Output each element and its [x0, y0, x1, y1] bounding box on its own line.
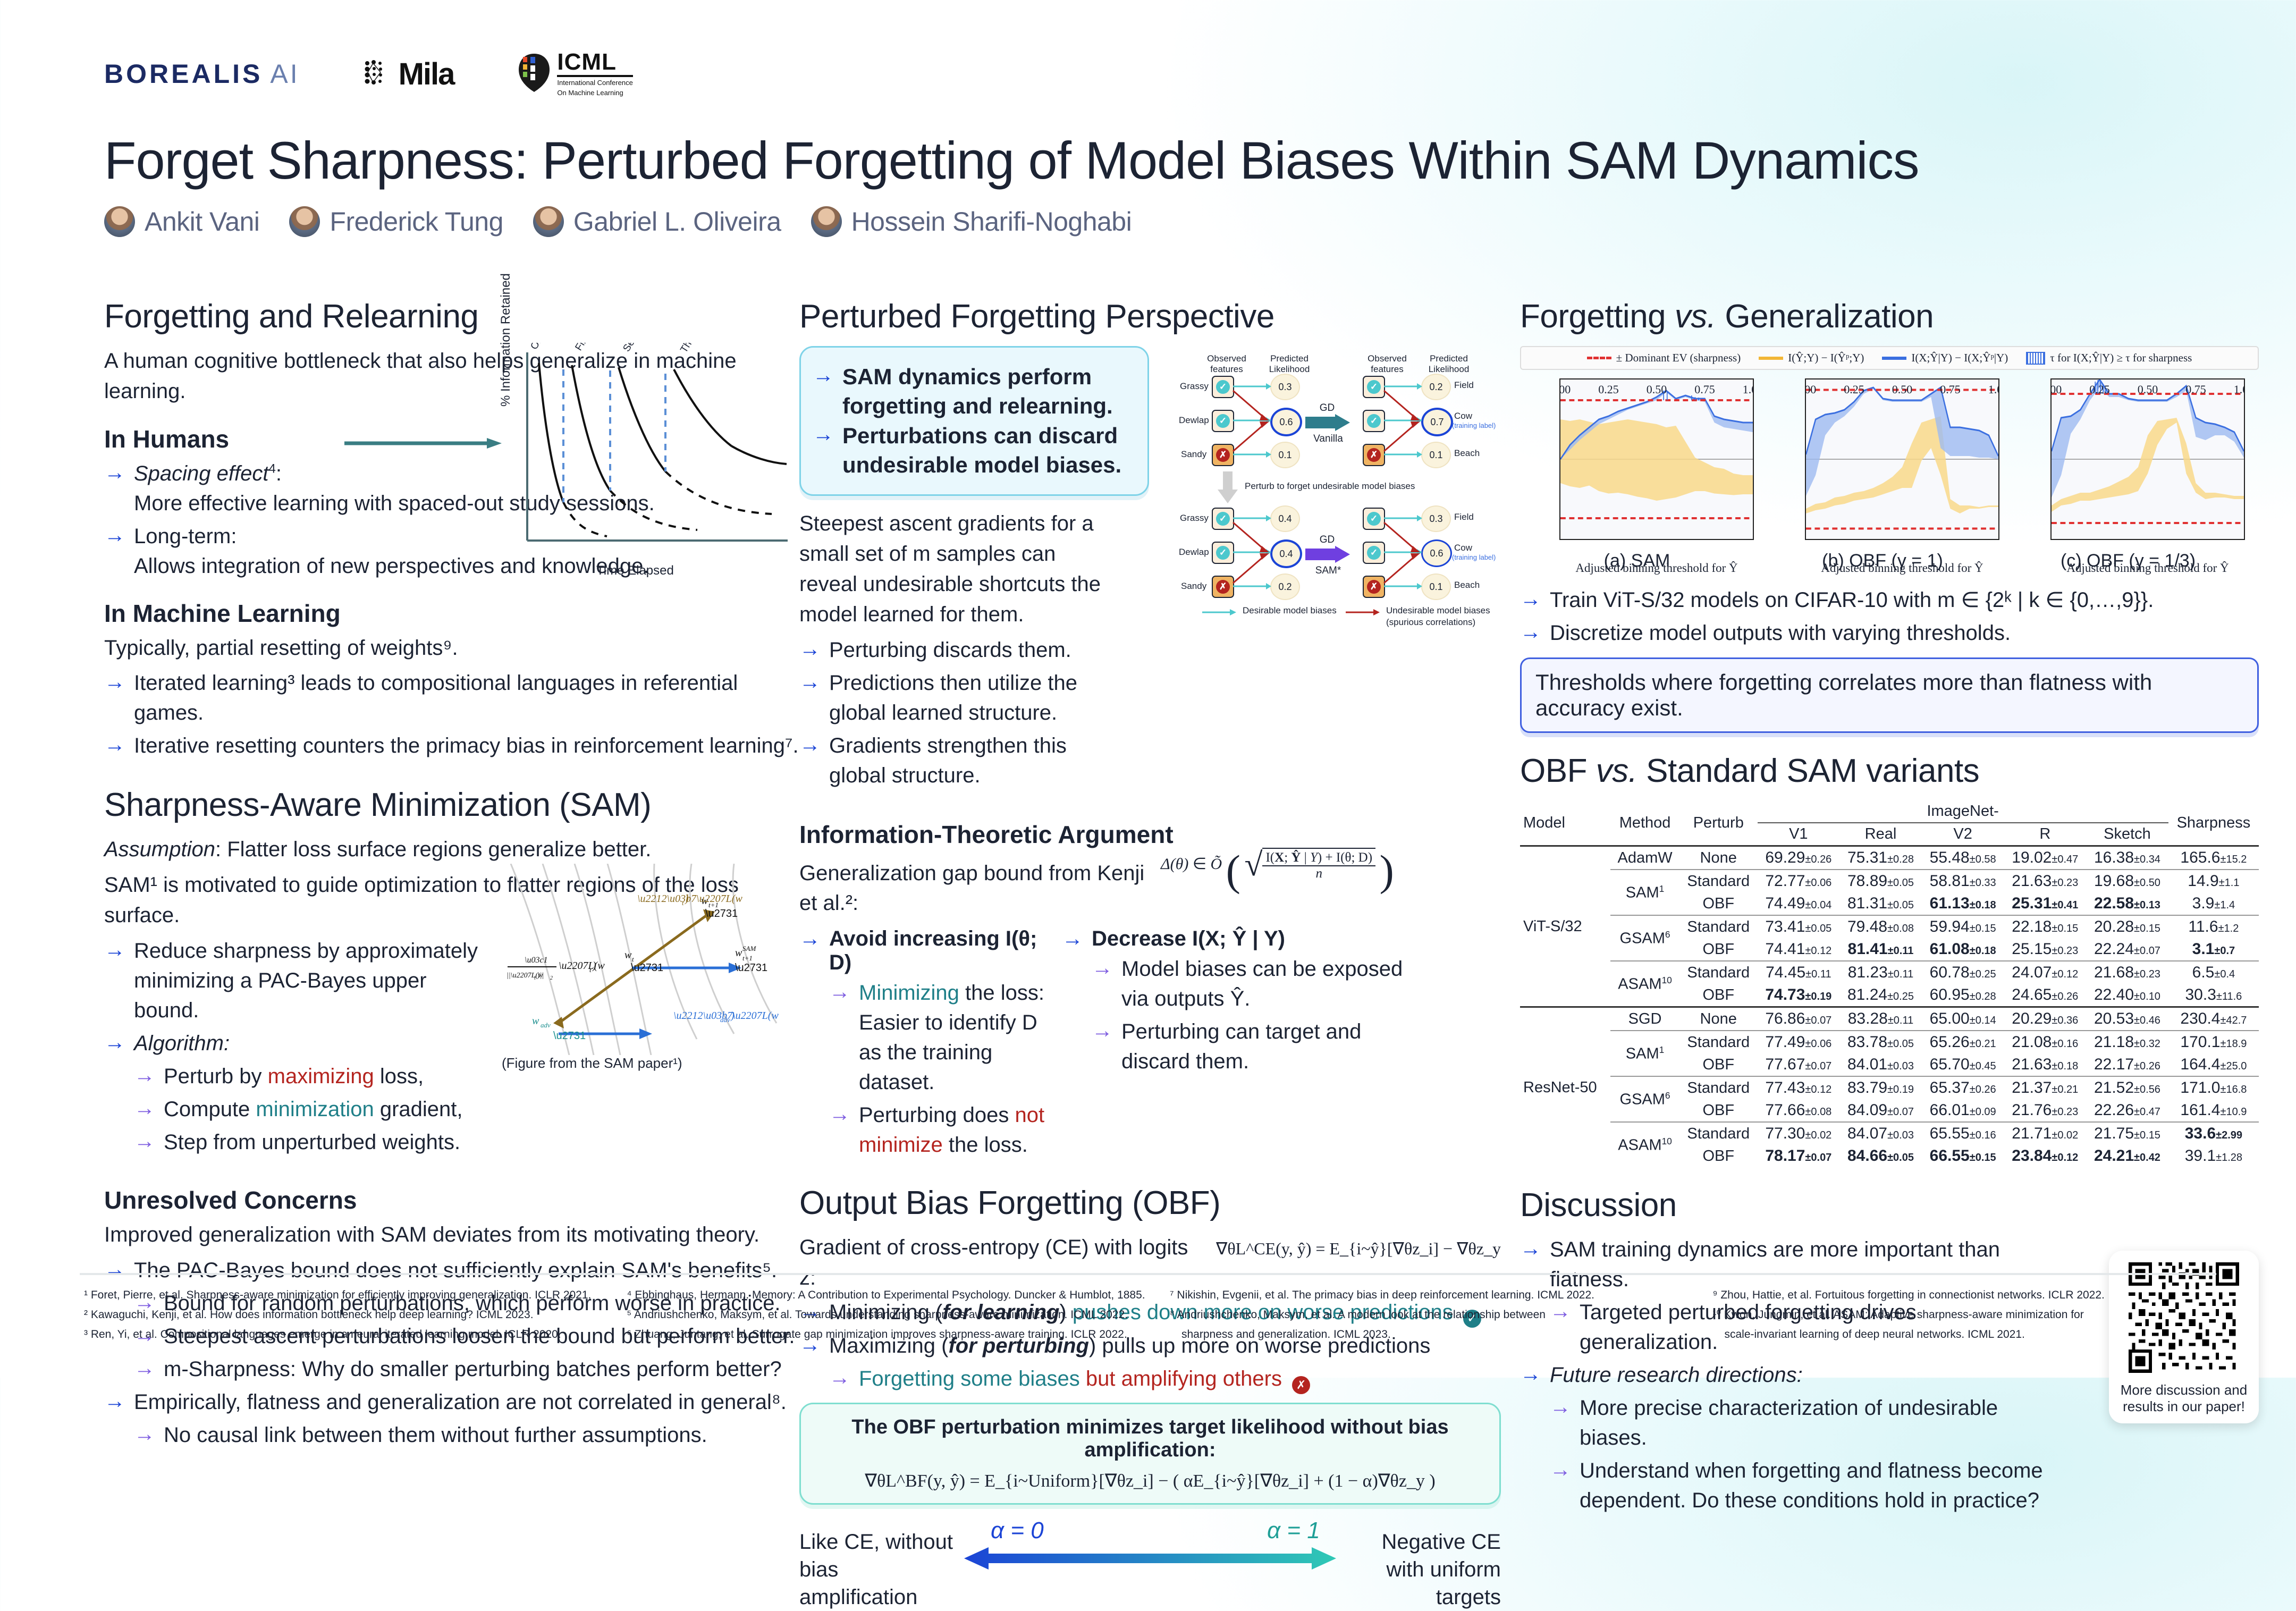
table-row: ResNet-50SGDNone76.86±0.0783.28±0.1165.0… [1520, 1007, 2259, 1031]
table-cell-value: 165.6±15.2 [2168, 846, 2259, 870]
table-cell-value: 19.02±0.47 [2004, 846, 2086, 870]
likelihood-oval: 0.3 [1421, 505, 1451, 532]
icml-sub1: International Conference [557, 79, 632, 87]
class-label-field: Field [1454, 512, 1474, 522]
likelihood-oval: 0.1 [1421, 442, 1451, 468]
table-cell-value: 171.0±16.8 [2168, 1076, 2259, 1099]
table-cell-value: 77.30±0.02 [1758, 1122, 1840, 1145]
table-row: ASAM10Standard74.45±0.1181.23±0.1160.78±… [1520, 961, 2259, 984]
obf-formula-callout: The OBF perturbation minimizes target li… [799, 1403, 1501, 1505]
ce-gradient-lead: Gradient of cross-entropy (CE) with logi… [799, 1233, 1209, 1293]
svg-text:\u03c1: \u03c1 [525, 956, 548, 965]
subsection-unresolved-concerns: Unresolved Concerns [104, 1186, 811, 1214]
dashed-line-icon [1587, 357, 1611, 359]
table-cell-value: 24.07±0.12 [2004, 961, 2086, 984]
likelihood-oval: 0.6 [1270, 408, 1302, 436]
training-label-note: (training label) [1452, 553, 1496, 561]
borealis-logo-text: BOREALIS [104, 58, 263, 89]
table-cell-value: 65.70±0.45 [1922, 1053, 2004, 1076]
sam-algorithm-list: Perturb by maximizing loss, Compute mini… [134, 1061, 487, 1157]
footnotes: ¹ Foret, Pierre, et al. Sharpness-aware … [84, 1286, 2242, 1345]
svg-text:\u2207L(w: \u2207L(w [559, 960, 605, 972]
check-icon: ✓ [1367, 512, 1381, 526]
colon: : [276, 462, 282, 485]
concerns-lead: Improved generalization with SAM deviate… [104, 1220, 811, 1250]
table-cell-value: 20.53±0.46 [2086, 1007, 2168, 1031]
list-item: Perturb by maximizing loss, [134, 1061, 487, 1091]
ml-list: Iterated learning³ leads to compositiona… [104, 668, 811, 761]
algo-highlight: minimization [256, 1098, 374, 1121]
icml-logo: ICML International Conference On Machine… [517, 50, 632, 98]
table-cell-value: 77.43±0.12 [1758, 1076, 1840, 1099]
table-cell-method: SGD [1610, 1007, 1679, 1031]
table-row: ViT-S/32AdamWNone69.29±0.2675.31±0.2855.… [1520, 846, 2259, 870]
feature-tile: ✗ [1212, 444, 1234, 466]
table-cell-value: 6.5±0.4 [2168, 961, 2259, 984]
table-cell-perturb: OBF [1679, 1053, 1757, 1076]
list-item: Understand when forgetting and flatness … [1550, 1456, 2052, 1515]
table-cell-value: 74.49±0.04 [1758, 892, 1840, 915]
author-list: Ankit Vani Frederick Tung Gabriel L. Oli… [104, 206, 1132, 237]
training-label-note: (training label) [1452, 421, 1496, 429]
algo-post: gradient, [374, 1098, 463, 1121]
gd-label-bottom: GD [1309, 534, 1346, 546]
alpha-left-label: Like CE, without bias amplification [799, 1528, 959, 1611]
feature-label-sandy: Sandy [1181, 449, 1206, 460]
table-cell-value: 3.1±0.7 [2168, 938, 2259, 961]
table-row: GSAM6Standard73.41±0.0579.48±0.0859.94±0… [1520, 915, 2259, 938]
xtick: 0.75 [2185, 383, 2206, 540]
mila-logo-text: Mila [399, 56, 454, 92]
chart-legend: ± Dominant EV (sharpness) I(Ŷ;Y) − I(Ŷᵖ;… [1520, 346, 2259, 370]
feature-label-grassy: Grassy [1180, 513, 1209, 524]
likelihood-oval: 0.2 [1270, 573, 1300, 600]
algorithm-label: Algorithm: [134, 1032, 230, 1055]
forgetting-curve-figure: % Information Retained Time Elapsed Orig… [506, 343, 796, 574]
table-cell-method: GSAM6 [1610, 1076, 1679, 1122]
ce-gradient-formula: ∇θL^CE(y, ŷ) = E_{i~ŷ}[∇θz_i] − ∇θz_y [1216, 1238, 1501, 1259]
gd-label-top: GD [1309, 402, 1346, 414]
subsection-info-theoretic: Information-Theoretic Argument [799, 820, 1501, 849]
footnote: ⁵ Andriushchenko, Maksym, et al. Towards… [627, 1306, 1157, 1324]
likelihood-oval: 0.7 [1421, 408, 1453, 436]
th-method: Method [1610, 800, 1679, 846]
sam-star-label: SAM* [1305, 565, 1351, 577]
feature-tile: ✓ [1212, 508, 1234, 530]
check-icon: ✓ [1216, 414, 1230, 428]
threshold-highlight-box: Thresholds where forgetting correlates m… [1520, 657, 2259, 733]
perturb-arrow-icon [1217, 471, 1238, 504]
spacing-effect-label: Spacing effect [134, 462, 269, 485]
borealis-logo-ai: AI [270, 58, 299, 89]
table-cell-perturb: None [1679, 1007, 1757, 1031]
svg-text:Second review: Second review [621, 343, 665, 354]
poster-title: Forget Sharpness: Perturbed Forgetting o… [104, 133, 2209, 189]
table-cell-value: 22.17±0.26 [2086, 1053, 2168, 1076]
table-cell-value: 65.26±0.21 [1922, 1031, 2004, 1053]
th-perturb: Perturb [1679, 800, 1757, 846]
table-cell-value: 161.4±10.9 [2168, 1099, 2259, 1122]
svg-text:t: t [589, 966, 592, 974]
class-label-beach: Beach [1454, 580, 1480, 591]
section-title-sam: Sharpness-Aware Minimization (SAM) [104, 786, 811, 824]
svg-text:t: t [682, 899, 684, 907]
key-message-callout: SAM dynamics perform forgetting and rele… [799, 346, 1149, 496]
experiment-bullets: Train ViT-S/32 models on CIFAR-10 with m… [1520, 585, 2259, 648]
section-title-forgetting-relearning: Forgetting and Relearning [104, 298, 811, 335]
svg-text:\u2212\u03b7\u2207L(w: \u2212\u03b7\u2207L(w [637, 893, 742, 905]
table-cell-value: 22.24±0.07 [2086, 938, 2168, 961]
algo-post: loss, [374, 1065, 424, 1088]
table-cell-value: 83.79±0.19 [1839, 1076, 1922, 1099]
svg-text:t+1: t+1 [742, 954, 753, 962]
blue-line-icon [1882, 357, 1906, 360]
table-cell-value: 77.49±0.06 [1758, 1031, 1840, 1053]
table-cell-model: ViT-S/32 [1520, 846, 1610, 1007]
obf-box-formula: ∇θL^BF(y, ŷ) = E_{i~Uniform}[∇θz_i] − ( … [817, 1470, 1483, 1491]
chart-a-xlabel: Adjusted binning threshold for Ŷ [1559, 561, 1754, 575]
edges-top-right [1383, 374, 1424, 469]
column-left: Forgetting and Relearning A human cognit… [104, 298, 811, 1453]
table-cell-value: 21.76±0.23 [2004, 1099, 2086, 1122]
forgetting-figure-xlabel: Time Elapsed [596, 563, 674, 578]
table-cell-perturb: Standard [1679, 961, 1757, 984]
xtick: 0.50 [2138, 383, 2158, 540]
feature-tile: ✗ [1212, 576, 1234, 598]
author-name: Hossein Sharifi-Noghabi [851, 206, 1132, 237]
svg-text:2: 2 [550, 975, 553, 981]
check-icon: ✓ [1367, 546, 1381, 560]
list-item: No causal link between them without furt… [134, 1420, 811, 1450]
table-cell-value: 22.58±0.13 [2086, 892, 2168, 915]
likelihood-oval: 0.4 [1270, 505, 1300, 532]
xtick: 0.00 [1559, 383, 1571, 540]
edges-bottom-left [1232, 505, 1273, 601]
table-cell-value: 65.37±0.26 [1922, 1076, 2004, 1099]
gd-arrow-sam-icon [1305, 546, 1350, 563]
legend-undesirable-sublabel: (spurious correlations) [1386, 617, 1475, 628]
table-row: GSAM6Standard77.43±0.1283.79±0.1965.37±0… [1520, 1076, 2259, 1099]
cross-icon: ✗ [1216, 580, 1230, 594]
svg-text:SAM: SAM [742, 944, 756, 952]
table-header-row-1: Model Method Perturb ImageNet- Sharpness [1520, 800, 2259, 823]
algo-pre: Compute [164, 1098, 256, 1121]
table-cell-value: 74.45±0.11 [1758, 961, 1840, 984]
table-cell-perturb: OBF [1679, 892, 1757, 915]
footnote-col-4: ⁹ Zhou, Hattie, et al. Fortuitous forget… [1713, 1286, 2242, 1345]
legend-undesirable-arrow-icon [1346, 609, 1381, 616]
table-cell-perturb: Standard [1679, 1122, 1757, 1145]
poster-root: BOREALIS AI Mila [0, 0, 2296, 1378]
chart-a-plot: 1.0 0.5 0.0 -0.5 -1.0 [1559, 378, 1754, 540]
chart-b-plot: 1.0 0.5 0.0 -0.5 -1.0 0. [1805, 378, 1999, 540]
table-cell-value: 81.31±0.05 [1839, 892, 1922, 915]
table-cell-value: 25.31±0.41 [2004, 892, 2086, 915]
legend-desirable-arrow-icon [1202, 609, 1237, 616]
amplifying-highlight: but amplifying others [1080, 1367, 1282, 1390]
cross-icon: ✗ [1216, 448, 1230, 462]
svg-text:Third review: Third review [678, 343, 717, 355]
footnote: ¹⁰ Kwon, Jungmin, et al. ASAM: Adaptive … [1713, 1306, 2242, 1324]
alpha-gradient-arrow-icon [964, 1546, 1336, 1571]
check-icon: ✓ [1216, 512, 1230, 526]
chart-c-plot: 1.0 0.5 0.0 -0.5 -1.0 [2050, 378, 2245, 540]
forgetting-highlight: Forgetting some biases [859, 1367, 1080, 1390]
table-cell-perturb: Standard [1679, 870, 1757, 892]
results-table: Model Method Perturb ImageNet- Sharpness… [1520, 800, 2259, 1167]
chart-a: Kendall's τ with accuracy 1.0 0.5 0.0 -0… [1520, 378, 1754, 571]
it-right-head: →Decrease I(X; Ŷ | Y) [1062, 927, 1434, 951]
svg-text:\u2731: \u2731 [631, 962, 663, 974]
table-cell-value: 74.73±0.19 [1758, 984, 1840, 1007]
svg-text:First review: First review [573, 343, 610, 353]
footnote: sharpness and generalization. ICML 2023. [1170, 1326, 1699, 1344]
svg-text:w: w [735, 947, 742, 959]
table-cell-value: 20.29±0.36 [2004, 1007, 2086, 1031]
list-item: Perturbing discards them. [799, 635, 1118, 665]
cross-badge-icon: ✗ [1292, 1376, 1310, 1394]
table-cell-value: 84.07±0.03 [1839, 1122, 1922, 1145]
feature-label-grassy: Grassy [1180, 381, 1209, 392]
table-cell-value: 19.68±0.50 [2086, 870, 2168, 892]
table-cell-method: ASAM10 [1610, 961, 1679, 1007]
alpha-spectrum: Like CE, without bias amplification α = … [799, 1512, 1501, 1587]
table-cell-value: 74.41±0.12 [1758, 938, 1840, 961]
likelihood-oval: 0.1 [1270, 442, 1300, 468]
table-cell-value: 21.68±0.23 [2086, 961, 2168, 984]
diagram-header-observed-right: Observed features [1363, 353, 1412, 374]
yellow-line-icon [1759, 357, 1783, 360]
svg-text:adv: adv [541, 1021, 551, 1029]
feature-tile: ✓ [1212, 410, 1234, 432]
list-item: Gradients strengthen this global structu… [799, 731, 1118, 790]
legend-item-yellow: I(Ŷ;Y) − I(Ŷᵖ;Y) [1759, 351, 1864, 365]
mila-dots-icon [362, 58, 394, 90]
table-cell-perturb: Standard [1679, 1031, 1757, 1053]
alpha-zero-label: α = 0 [991, 1517, 1044, 1544]
list-item: SAM dynamics perform forgetting and rele… [813, 362, 1132, 420]
sam-list: Reduce sharpness by approximately minimi… [104, 936, 487, 1157]
footnote: ³ Ren, Yi, et al. Compositional language… [84, 1326, 613, 1344]
legend-desirable-label: Desirable model biases [1243, 605, 1337, 616]
table-cell-value: 60.95±0.28 [1922, 984, 2004, 1007]
svg-text:): ) [730, 1010, 735, 1022]
it-left-list: Minimizing the loss: Easier to identify … [829, 978, 1049, 1160]
list-item: Perturbing can target and discard them. [1092, 1017, 1434, 1076]
th-sketch: Sketch [2086, 823, 2168, 846]
table-cell-value: 3.9±1.4 [2168, 892, 2259, 915]
table-cell-value: 22.18±0.15 [2004, 915, 2086, 938]
section-title-discussion: Discussion [1520, 1186, 2259, 1224]
table-cell-value: 78.17±0.07 [1758, 1145, 1840, 1167]
table-cell-value: 84.09±0.07 [1839, 1099, 1922, 1122]
table-cell-value: 23.84±0.12 [2004, 1145, 2086, 1167]
footnote-col-1: ¹ Foret, Pierre, et al. Sharpness-aware … [84, 1286, 613, 1345]
xtick: 1.00 [1988, 383, 1999, 540]
table-cell-method: ASAM10 [1610, 1122, 1679, 1167]
likelihood-oval: 0.6 [1421, 539, 1452, 567]
list-item: Forgetting some biases but amplifying ot… [829, 1364, 1501, 1394]
table-cell-value: 21.71±0.02 [2004, 1122, 2086, 1145]
table-cell-value: 77.66±0.08 [1758, 1099, 1840, 1122]
cross-icon: ✗ [1367, 580, 1381, 594]
xtick: 0.25 [2089, 383, 2110, 540]
likelihood-oval: 0.1 [1421, 573, 1451, 600]
table-cell-perturb: OBF [1679, 1145, 1757, 1167]
generalization-gap-formula: Δ(θ) ∈ Õ ( √ I(X; Ŷ | Y) + I(θ; D) n ) [1161, 846, 1394, 896]
check-icon: ✓ [1216, 380, 1230, 394]
class-label-beach: Beach [1454, 448, 1480, 459]
table-cell-value: 21.18±0.32 [2086, 1031, 2168, 1053]
discussion-text: SAM training dynamics are more important… [1550, 1238, 2000, 1291]
table-cell-value: 69.29±0.26 [1758, 846, 1840, 870]
xtick: 0.25 [1598, 383, 1619, 540]
table-cell-value: 21.08±0.16 [2004, 1031, 2086, 1053]
feature-tile: ✓ [1363, 542, 1385, 564]
table-cell-method: SAM1 [1610, 870, 1679, 915]
check-icon: ✓ [1216, 546, 1230, 560]
table-cell-value: 21.75±0.15 [2086, 1122, 2168, 1145]
section-title-perturbed-forgetting: Perturbed Forgetting Perspective [799, 298, 1501, 335]
table-cell-value: 73.41±0.05 [1758, 915, 1840, 938]
table-cell-value: 81.41±0.11 [1839, 938, 1922, 961]
table-cell-value: 65.00±0.14 [1922, 1007, 2004, 1031]
xtick: 0.00 [2050, 383, 2062, 540]
feature-label-dewlap: Dewlap [1179, 415, 1209, 426]
footnote: ¹ Foret, Pierre, et al. Sharpness-aware … [84, 1286, 613, 1304]
perturbed-bullets: Perturbing discards them. Predictions th… [799, 635, 1118, 790]
svg-text:Original learning: Original learning [528, 343, 577, 352]
discussion-list: SAM training dynamics are more important… [1520, 1235, 2052, 1515]
borealis-ai-logo: BOREALIS AI [104, 58, 300, 89]
table-cell-value: 11.6±1.2 [2168, 915, 2259, 938]
section-title-obf: Output Bias Forgetting (OBF) [799, 1184, 1501, 1222]
table-cell-value: 84.01±0.03 [1839, 1053, 1922, 1076]
svg-text:\u2731: \u2731 [735, 962, 767, 974]
icml-title: ICML [557, 50, 632, 77]
svg-text:adv: adv [720, 1016, 730, 1024]
list-item: Future research directions: More precise… [1520, 1360, 2052, 1515]
chart-b-xlabel: Adjusted binning threshold for Ŷ [1805, 561, 1999, 575]
avatar [104, 206, 135, 237]
vanilla-label: Vanilla [1305, 433, 1351, 445]
avatar [289, 206, 320, 237]
table-cell-value: 22.40±0.10 [2086, 984, 2168, 1007]
logo-row: BOREALIS AI Mila [104, 51, 633, 97]
feature-label-sandy: Sandy [1181, 581, 1206, 592]
table-cell-value: 72.77±0.06 [1758, 870, 1840, 892]
footnote: ⁷ Nikishin, Evgenii, et al. The primacy … [1170, 1286, 1699, 1304]
author-name: Ankit Vani [145, 206, 259, 237]
svg-text:t: t [534, 975, 536, 981]
list-item: m-Sharpness: Why do smaller perturbing b… [134, 1354, 811, 1384]
algo-highlight: maximizing [268, 1065, 374, 1088]
list-item: Minimizing the loss: Easier to identify … [829, 978, 1049, 1097]
sam-assumption-line: Assumption: Flatter loss surface regions… [104, 834, 811, 865]
obf-sublist: Forgetting some biases but amplifying ot… [829, 1364, 1501, 1394]
footnote-col-3: ⁷ Nikishin, Evgenii, et al. The primacy … [1170, 1286, 1699, 1345]
xtick: 1.00 [2234, 383, 2245, 540]
author-item: Ankit Vani [104, 206, 259, 237]
table-cell-value: 21.37±0.21 [2004, 1076, 2086, 1099]
sam-figure-caption: (Figure from the SAM paper¹) [502, 1055, 682, 1072]
feature-tile: ✗ [1363, 576, 1385, 598]
chart-b: Kendall's τ with accuracy 1.0 0.5 0.0 -0… [1766, 378, 1999, 571]
diagram-header-predicted-right: Predicted Likelihood [1421, 353, 1476, 374]
diagram-header-observed-left: Observed features [1202, 353, 1251, 374]
list-item: Train ViT-S/32 models on CIFAR-10 with m… [1520, 585, 2259, 615]
edges-top-left [1232, 374, 1273, 469]
table-cell-value: 55.48±0.58 [1922, 846, 2004, 870]
author-item: Gabriel L. Oliveira [533, 206, 781, 237]
list-item: More precise characterization of undesir… [1550, 1393, 2052, 1453]
xtick: 0.00 [1805, 383, 1816, 540]
concerns-list: The PAC-Bayes bound does not sufficientl… [104, 1255, 811, 1450]
footnote: ⁹ Zhou, Hattie, et al. Fortuitous forget… [1713, 1286, 2242, 1304]
th-sharpness: Sharpness [2168, 800, 2259, 846]
table-cell-perturb: OBF [1679, 984, 1757, 1007]
class-label-field: Field [1454, 380, 1474, 391]
table-cell-method: SAM1 [1610, 1031, 1679, 1076]
table-row: ASAM10Standard77.30±0.0284.07±0.0365.55±… [1520, 1122, 2259, 1145]
xtick: 0.25 [1844, 383, 1864, 540]
table-cell-value: 76.86±0.07 [1758, 1007, 1840, 1031]
table-cell-model: ResNet-50 [1520, 1007, 1610, 1168]
alpha-right-label: Negative CE with uniform targets [1341, 1528, 1501, 1611]
table-cell-value: 59.94±0.15 [1922, 915, 2004, 938]
author-item: Hossein Sharifi-Noghabi [811, 206, 1132, 237]
colon: : [231, 525, 237, 548]
list-item: Perturbations can discard undesirable mo… [813, 421, 1132, 479]
list-item: Model biases can be exposed via outputs … [1092, 954, 1434, 1014]
table-cell-value: 66.01±0.09 [1922, 1099, 2004, 1122]
discussion-sublist: More precise characterization of undesir… [1550, 1393, 2052, 1515]
table-cell-value: 14.9±1.1 [2168, 870, 2259, 892]
perturb-note: Perturb to forget undesirable model bias… [1245, 481, 1415, 492]
long-term-label: Long-term [134, 525, 231, 548]
table-cell-method: AdamW [1610, 846, 1679, 870]
author-name: Frederick Tung [330, 206, 503, 237]
author-name: Gabriel L. Oliveira [573, 206, 781, 237]
perturbed-paragraph: Steepest ascent gradients for a small se… [799, 509, 1118, 629]
xtick: 1.00 [1743, 383, 1754, 540]
footnote-divider [80, 1273, 2216, 1275]
legend-item-dominant-ev: ± Dominant EV (sharpness) [1587, 351, 1741, 365]
table-cell-value: 58.81±0.33 [1922, 870, 2004, 892]
table-cell-value: 39.1±1.28 [2168, 1145, 2259, 1167]
table-cell-value: 83.28±0.11 [1839, 1007, 1922, 1031]
list-item: Perturbing does not minimize the loss. [829, 1100, 1049, 1160]
chart-row: Kendall's τ with accuracy 1.0 0.5 0.0 -0… [1520, 378, 2259, 571]
algo-pre: Perturb by [164, 1065, 268, 1088]
svg-text:): ) [685, 893, 689, 905]
likelihood-oval: 0.2 [1421, 374, 1451, 400]
concern-text: The PAC-Bayes bound does not sufficientl… [134, 1259, 777, 1282]
check-icon: ✓ [1367, 380, 1381, 394]
list-item: Discretize model outputs with varying th… [1520, 618, 2259, 648]
legend-item-blue: I(X;Ŷ|Y) − I(X;Ŷᵖ|Y) [1882, 351, 2008, 365]
table-cell-value: 164.4±25.0 [2168, 1053, 2259, 1076]
chart-c-xlabel: Adjusted binning threshold for Ŷ [2050, 561, 2245, 575]
th-real: Real [1839, 823, 1922, 846]
column-middle: Perturbed Forgetting Perspective SAM dyn… [799, 298, 1501, 1587]
list-item: Iterative resetting counters the primacy… [104, 731, 811, 761]
assumption-text: : Flatter loss surface regions generaliz… [215, 838, 651, 861]
footnote: ⁴ Ebbinghaus, Hermann. Memory: A Contrib… [627, 1286, 1157, 1304]
model-bias-diagram: Observed features Predicted Likelihood O… [1187, 353, 1506, 651]
avatar [811, 206, 842, 237]
svg-text:w: w [532, 1015, 539, 1027]
